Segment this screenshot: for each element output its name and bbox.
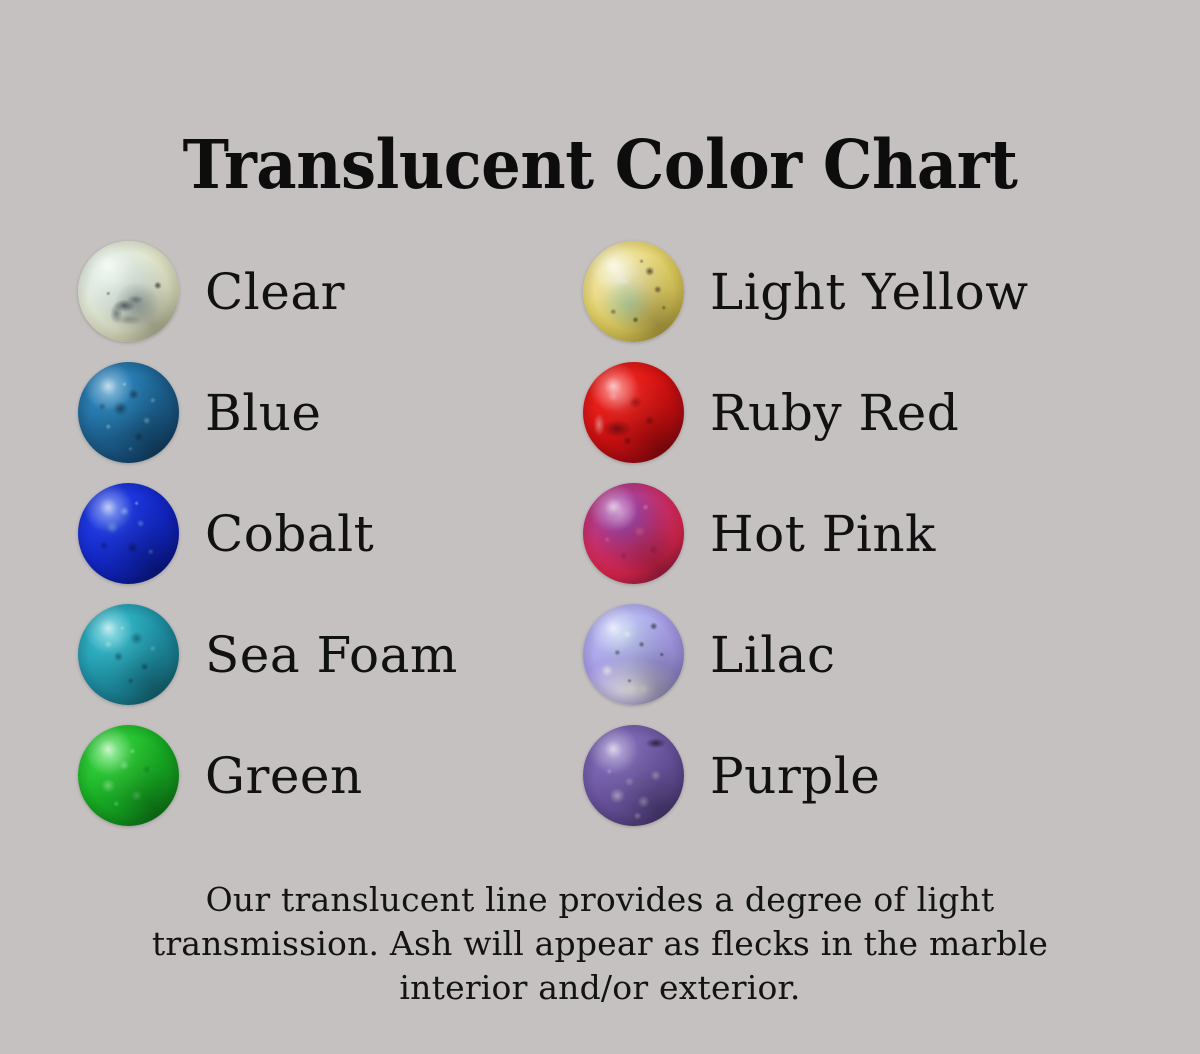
swatch-label-hot-pink: Hot Pink (710, 509, 936, 559)
marble-swatch-purple[interactable] (583, 725, 684, 826)
ash-flecks-overlay (583, 241, 684, 342)
gloss-highlight-overlay (583, 241, 684, 342)
swatch-label-purple: Purple (710, 751, 880, 801)
marble-swatch-lilac[interactable] (583, 604, 684, 705)
marble-swatch-blue[interactable] (78, 362, 179, 463)
ash-flecks-overlay (78, 362, 179, 463)
swatch-label-cobalt: Cobalt (205, 509, 374, 559)
marble-swatch-green[interactable] (78, 725, 179, 826)
swatch-row-ruby-red[interactable]: Ruby Red (583, 354, 1103, 471)
marble-swatch-clear[interactable] (78, 241, 179, 342)
swatch-row-light-yellow[interactable]: Light Yellow (583, 233, 1103, 350)
swatch-label-blue: Blue (205, 388, 322, 438)
marble-swatch-sea-foam[interactable] (78, 604, 179, 705)
swatch-column-right: Light Yellow Ruby Red Hot Pink (583, 233, 1103, 818)
ash-flecks-overlay (78, 241, 179, 342)
swatch-label-green: Green (205, 751, 363, 801)
swatch-row-green[interactable]: Green (78, 717, 598, 834)
swatch-row-cobalt[interactable]: Cobalt (78, 475, 598, 592)
swatch-label-lilac: Lilac (710, 630, 836, 680)
swatch-label-light-yellow: Light Yellow (710, 267, 1029, 317)
gloss-highlight-overlay (583, 483, 684, 584)
marble-swatch-cobalt[interactable] (78, 483, 179, 584)
gloss-highlight-overlay (583, 362, 684, 463)
swatch-row-clear[interactable]: Clear (78, 233, 598, 350)
swatch-row-sea-foam[interactable]: Sea Foam (78, 596, 598, 713)
swatch-label-ruby-red: Ruby Red (710, 388, 959, 438)
gloss-highlight-overlay (583, 725, 684, 826)
ash-flecks-overlay (583, 362, 684, 463)
marble-swatch-hot-pink[interactable] (583, 483, 684, 584)
disclaimer-note: Our translucent line provides a degree o… (138, 878, 1062, 1010)
swatch-row-lilac[interactable]: Lilac (583, 596, 1103, 713)
ash-flecks-overlay (583, 604, 684, 705)
swatch-grid: Clear Blue Cobalt (0, 233, 1200, 818)
swatch-column-left: Clear Blue Cobalt (78, 233, 598, 818)
ash-flecks-overlay (78, 483, 179, 584)
gloss-highlight-overlay (78, 241, 179, 342)
swatch-label-clear: Clear (205, 267, 345, 317)
ash-flecks-overlay (583, 483, 684, 584)
gloss-highlight-overlay (78, 604, 179, 705)
swatch-row-hot-pink[interactable]: Hot Pink (583, 475, 1103, 592)
ash-flecks-overlay (78, 725, 179, 826)
swatch-row-blue[interactable]: Blue (78, 354, 598, 471)
ash-flecks-overlay (583, 725, 684, 826)
gloss-highlight-overlay (78, 483, 179, 584)
page-title: Translucent Color Chart (42, 131, 1158, 198)
swatch-row-purple[interactable]: Purple (583, 717, 1103, 834)
swatch-label-sea-foam: Sea Foam (205, 630, 458, 680)
marble-swatch-light-yellow[interactable] (583, 241, 684, 342)
marble-swatch-ruby-red[interactable] (583, 362, 684, 463)
color-chart-page: Translucent Color Chart Clear Blue (0, 0, 1200, 1054)
gloss-highlight-overlay (583, 604, 684, 705)
ash-flecks-overlay (78, 604, 179, 705)
gloss-highlight-overlay (78, 362, 179, 463)
gloss-highlight-overlay (78, 725, 179, 826)
